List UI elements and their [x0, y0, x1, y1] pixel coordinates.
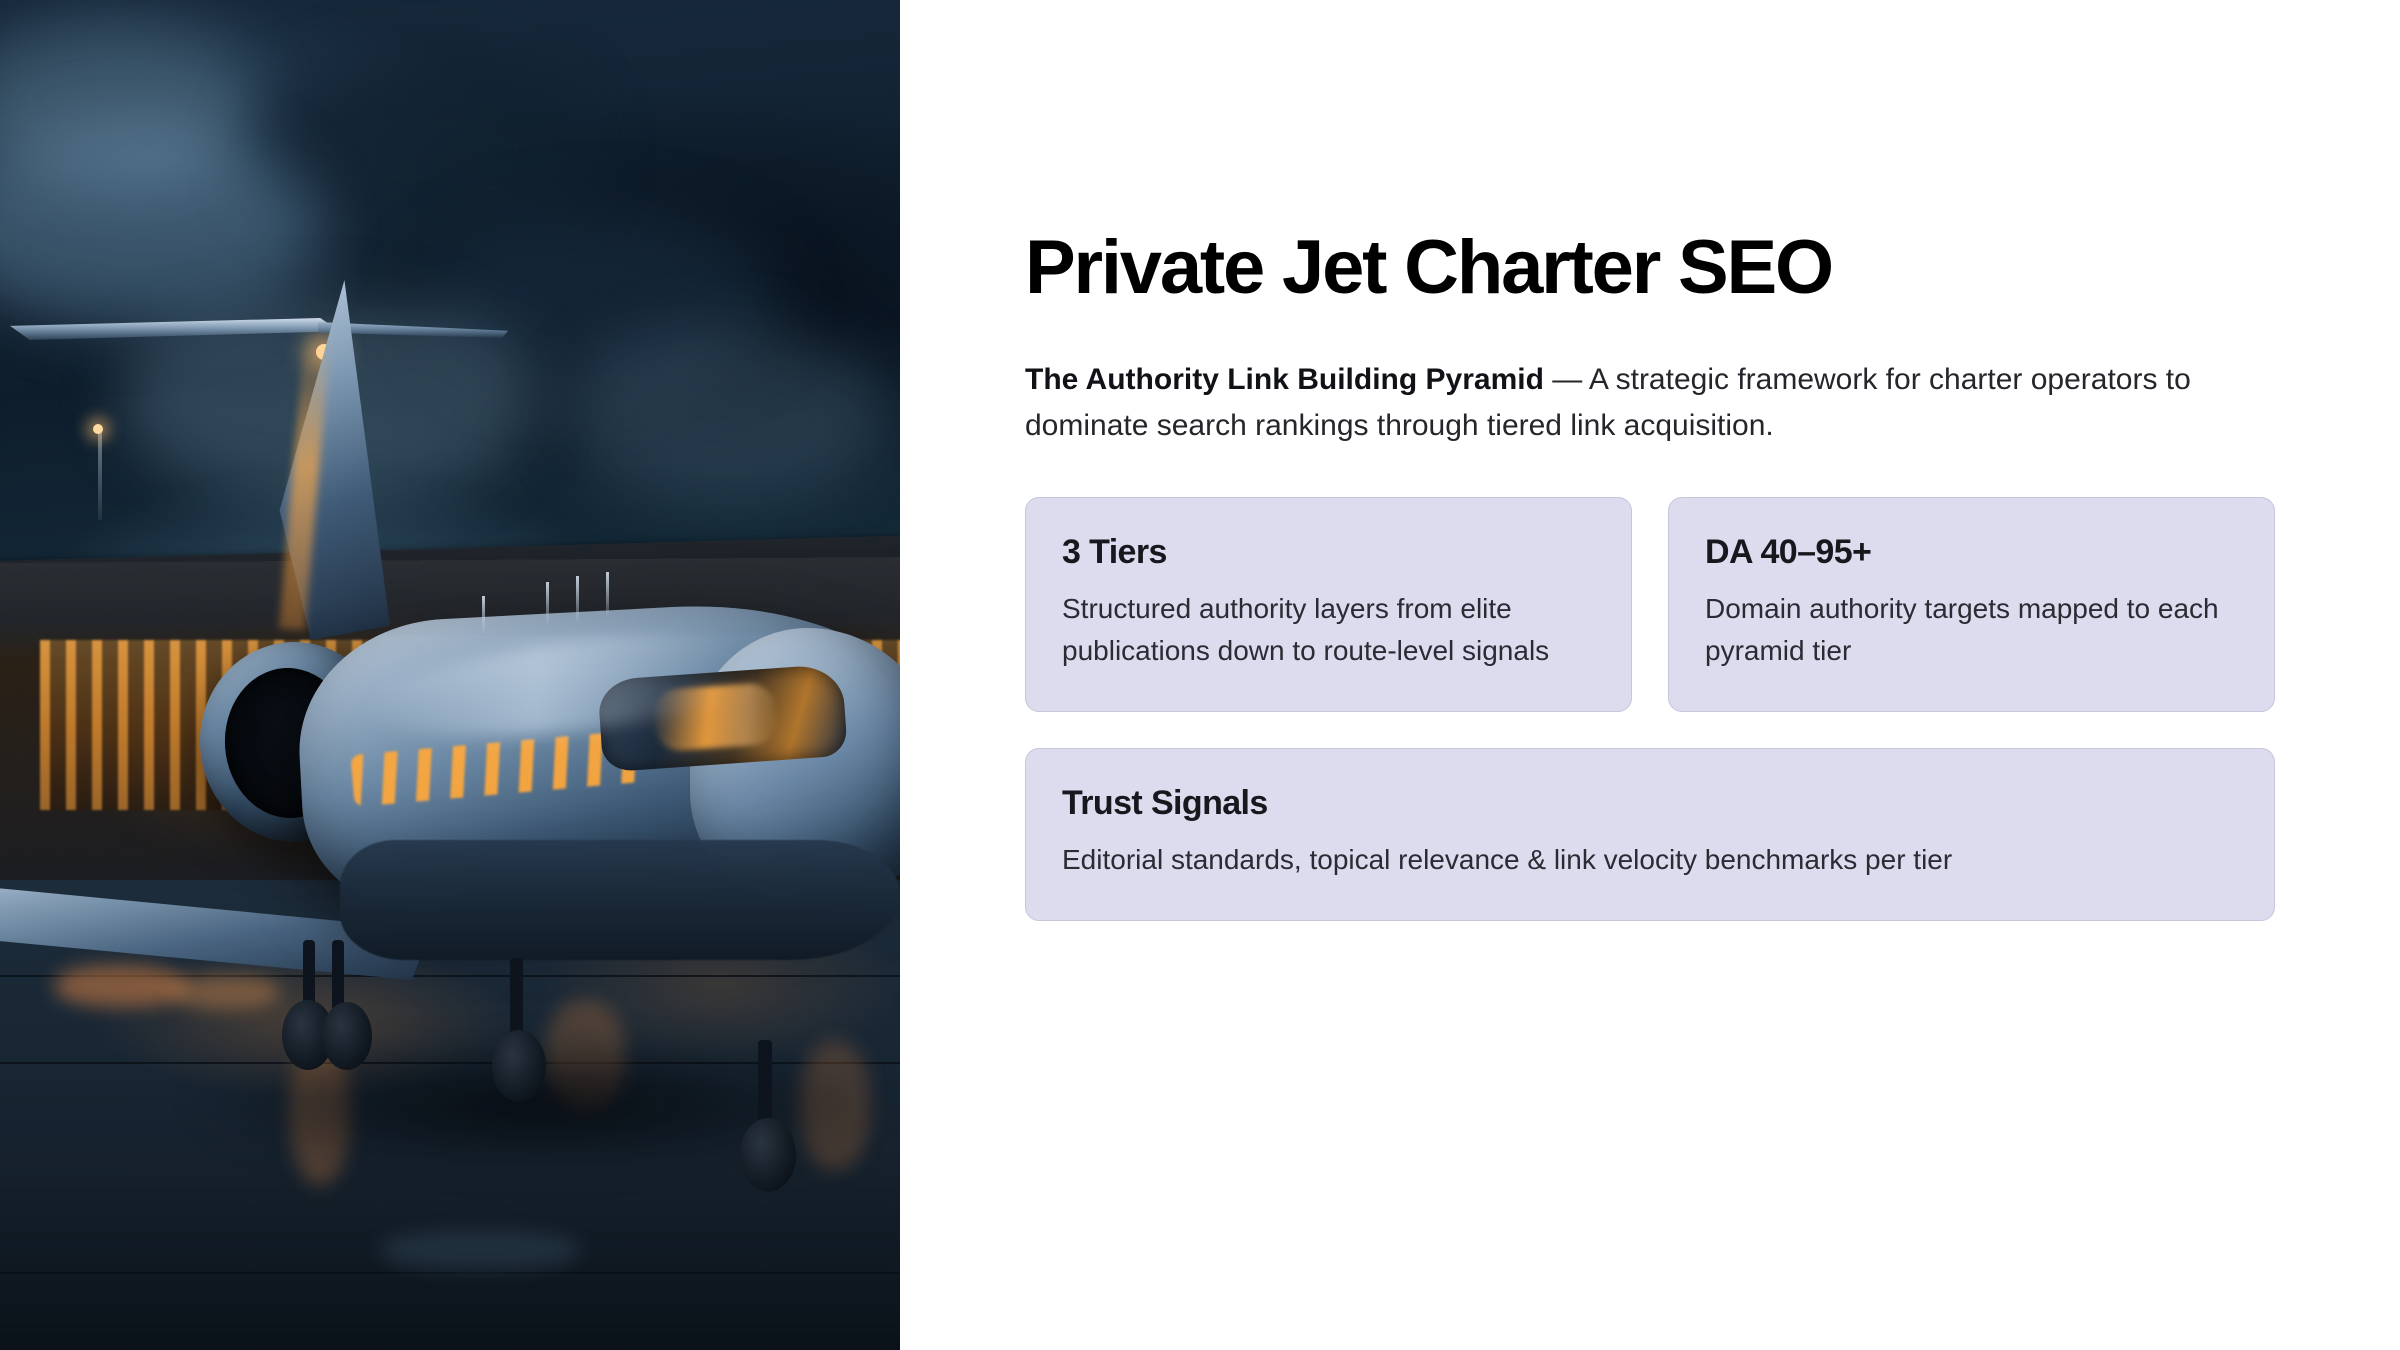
landing-gear-wheel: [322, 1002, 372, 1070]
subtitle-paragraph: The Authority Link Building Pyramid — A …: [1025, 307, 2240, 449]
horizontal-stabilizer: [10, 318, 340, 340]
card-title: DA 40–95+: [1705, 532, 2238, 572]
antenna: [546, 582, 549, 626]
slide-root: Private Jet Charter SEO The Authority Li…: [0, 0, 2400, 1350]
landing-gear-wheel: [492, 1030, 546, 1102]
highlight-card-tiers[interactable]: 3 Tiers Structured authority layers from…: [1025, 497, 1632, 712]
content-panel: Private Jet Charter SEO The Authority Li…: [900, 0, 2400, 1350]
card-title: Trust Signals: [1062, 783, 2238, 823]
subtitle-lede: The Authority Link Building Pyramid: [1025, 363, 1544, 396]
fuselage-underside: [340, 840, 900, 960]
antenna: [606, 572, 609, 618]
card-body: Structured authority layers from elite p…: [1062, 572, 1595, 673]
antenna: [482, 596, 485, 636]
private-jet-aircraft: [0, 0, 900, 1350]
highlight-card-domain-authority[interactable]: DA 40–95+ Domain authority targets mappe…: [1668, 497, 2275, 712]
landing-gear-wheel: [740, 1118, 796, 1192]
antenna: [576, 576, 579, 624]
hero-image-private-jet: [0, 0, 900, 1350]
card-title: 3 Tiers: [1062, 532, 1595, 572]
card-body: Domain authority targets mapped to each …: [1705, 572, 2238, 673]
highlight-card-trust-signals[interactable]: Trust Signals Editorial standards, topic…: [1025, 748, 2275, 921]
highlight-card-grid: 3 Tiers Structured authority layers from…: [1025, 497, 2275, 921]
page-title: Private Jet Charter SEO: [1025, 0, 2275, 307]
card-body: Editorial standards, topical relevance &…: [1062, 823, 2238, 882]
